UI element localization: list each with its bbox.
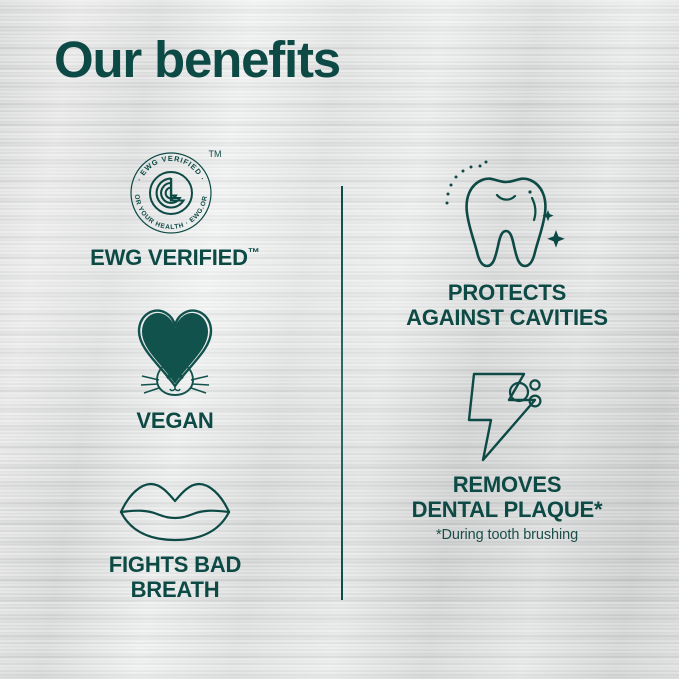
benefit-label-vegan: VEGAN: [20, 409, 330, 434]
benefit-ewg-verified: · EWG VERIFIED · · FOR YOUR HEALTH · EWG…: [20, 141, 330, 271]
column-divider: [341, 186, 343, 600]
ewg-verified-seal-icon: · EWG VERIFIED · · FOR YOUR HEALTH · EWG…: [20, 141, 330, 237]
lips-icon: [20, 470, 330, 544]
benefit-label-protects-against-cavities: PROTECTS AGAINST CAVITIES: [352, 281, 662, 331]
benefit-fights-bad-breath: FIGHTS BAD BREATH: [20, 470, 330, 603]
benefit-protects-against-cavities: PROTECTS AGAINST CAVITIES: [352, 158, 662, 331]
benefit-removes-dental-plaque: REMOVES DENTAL PLAQUE* *During tooth bru…: [352, 364, 662, 544]
vegan-bunny-heart-icon: [20, 296, 330, 400]
svg-text:· FOR YOUR HEALTH · EWG.ORG ·: · FOR YOUR HEALTH · EWG.ORG ·: [116, 136, 209, 231]
trademark-symbol: ™: [248, 246, 260, 260]
page-title: Our benefits: [54, 33, 340, 86]
benefit-label-fights-bad-breath: FIGHTS BAD BREATH: [20, 553, 330, 603]
benefit-vegan: VEGAN: [20, 296, 330, 434]
svg-text:TM: TM: [209, 149, 222, 159]
sparkling-tooth-icon: [352, 158, 662, 272]
benefit-label-removes-dental-plaque: REMOVES DENTAL PLAQUE*: [352, 473, 662, 523]
lightning-bolt-bubbles-icon: [352, 364, 662, 464]
benefits-infographic: Our benefits · EWG VERIFIE: [0, 0, 679, 679]
content-layer: Our benefits · EWG VERIFIE: [0, 0, 679, 679]
benefit-footnote-removes-dental-plaque: *During tooth brushing: [352, 527, 662, 544]
benefit-label-ewg-verified: EWG VERIFIED™: [20, 246, 330, 271]
